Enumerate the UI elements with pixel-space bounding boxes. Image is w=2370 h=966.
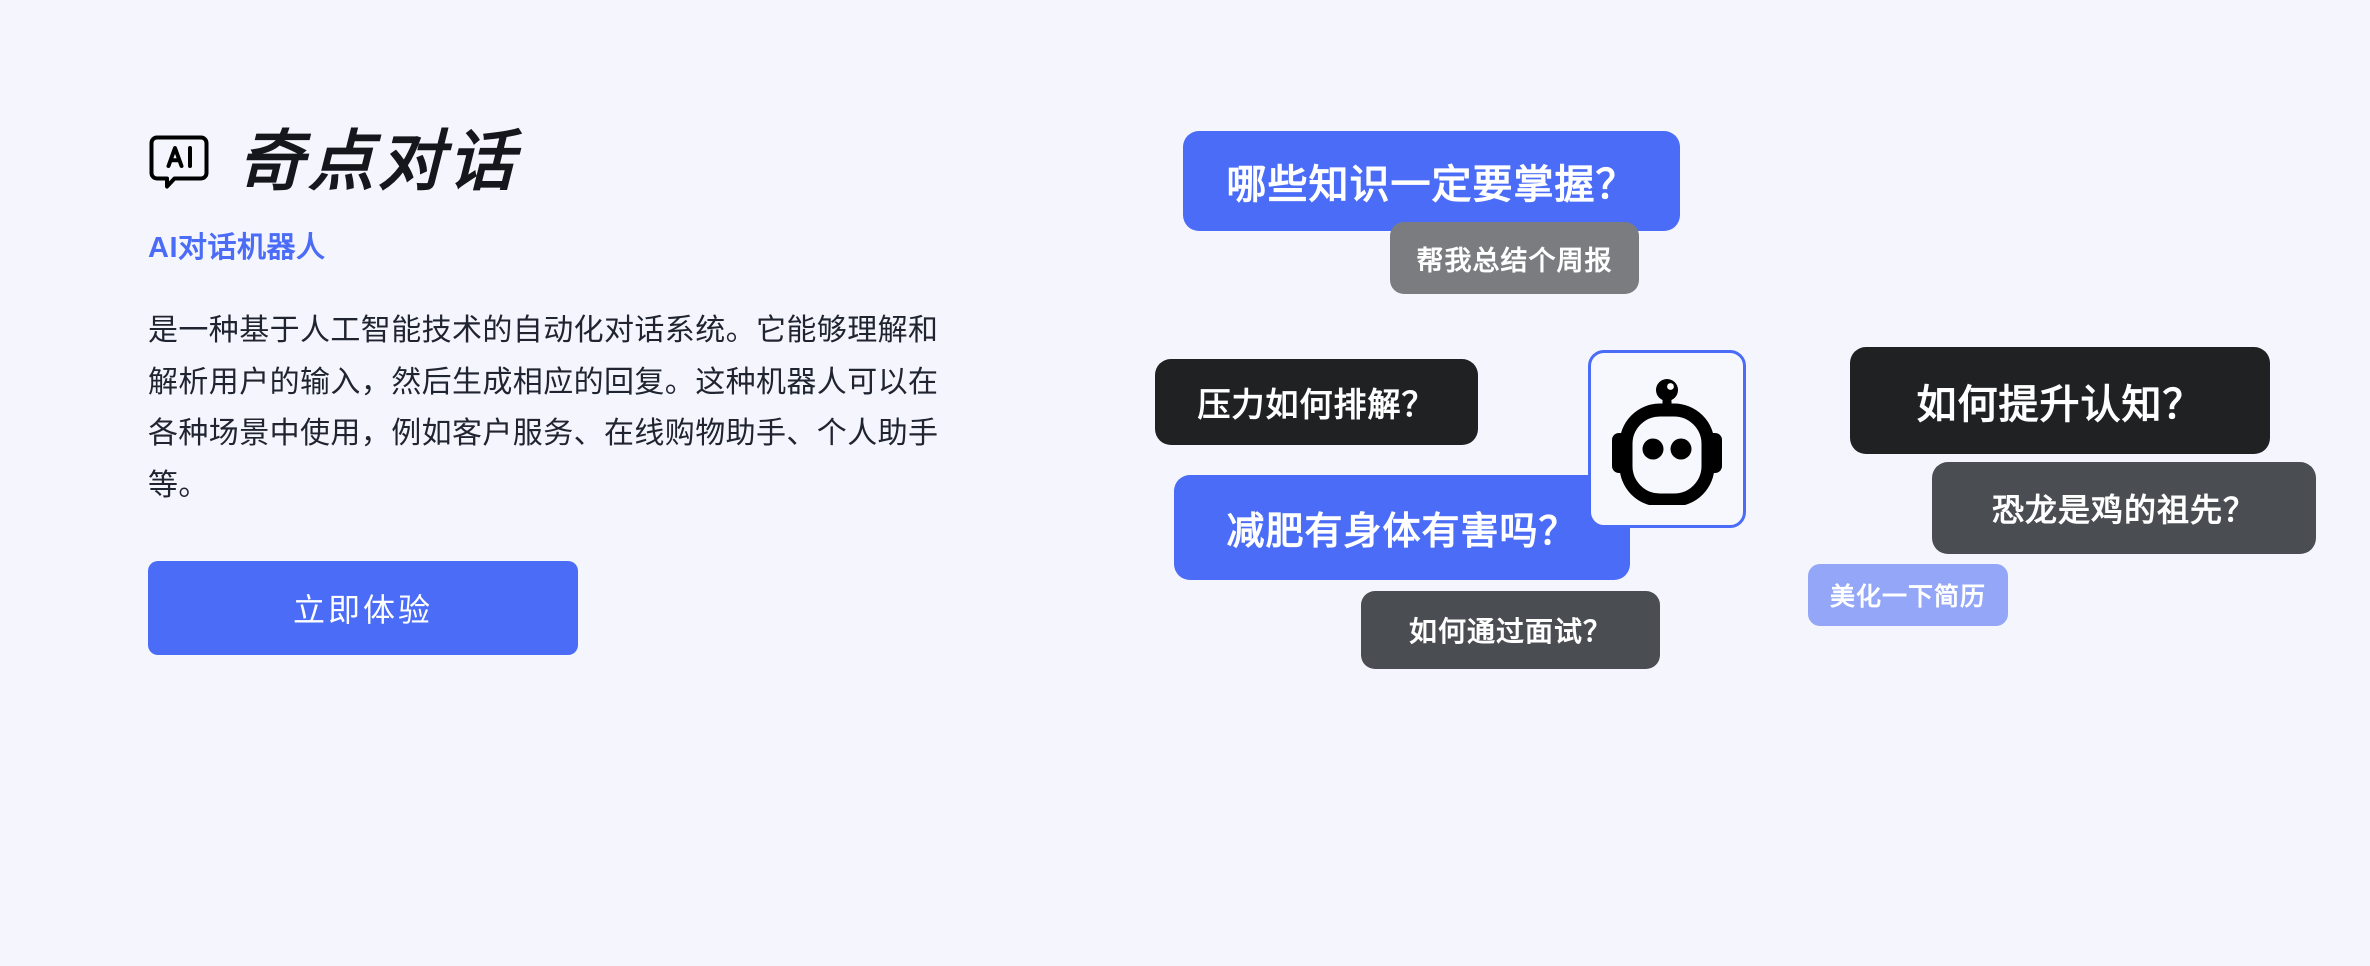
bubble-knowledge[interactable]: 哪些知识一定要掌握？ (1183, 131, 1680, 231)
bubble-stress[interactable]: 压力如何排解？ (1155, 359, 1478, 445)
chat-bubble-showcase: 哪些知识一定要掌握？帮我总结个周报压力如何排解？如何提升认知？恐龙是鸡的祖先？减… (1150, 0, 2370, 966)
robot-avatar-card[interactable] (1588, 350, 1746, 528)
bubble-resume[interactable]: 美化一下简历 (1808, 564, 2008, 626)
try-now-button[interactable]: 立即体验 (148, 561, 578, 655)
bubble-cognition[interactable]: 如何提升认知？ (1850, 347, 2270, 454)
bubble-weekly-report[interactable]: 帮我总结个周报 (1390, 222, 1639, 294)
product-description: 是一种基于人工智能技术的自动化对话系统。它能够理解和解析用户的输入，然后生成相应… (148, 305, 958, 511)
title-row: 奇点对话 (148, 118, 1028, 204)
product-intro-panel: 奇点对话 AI对话机器人 是一种基于人工智能技术的自动化对话系统。它能够理解和解… (148, 118, 1028, 655)
bubble-dinosaur[interactable]: 恐龙是鸡的祖先？ (1932, 462, 2316, 554)
ai-chat-bubble-icon (148, 130, 210, 192)
robot-face-icon (1608, 373, 1726, 505)
bubble-interview[interactable]: 如何通过面试？ (1361, 591, 1660, 669)
bubble-diet[interactable]: 减肥有身体有害吗？ (1174, 475, 1630, 580)
page-title: 奇点对话 (238, 128, 518, 194)
page-root: 奇点对话 AI对话机器人 是一种基于人工智能技术的自动化对话系统。它能够理解和解… (0, 0, 2370, 966)
product-subtitle: AI对话机器人 (148, 234, 1028, 263)
